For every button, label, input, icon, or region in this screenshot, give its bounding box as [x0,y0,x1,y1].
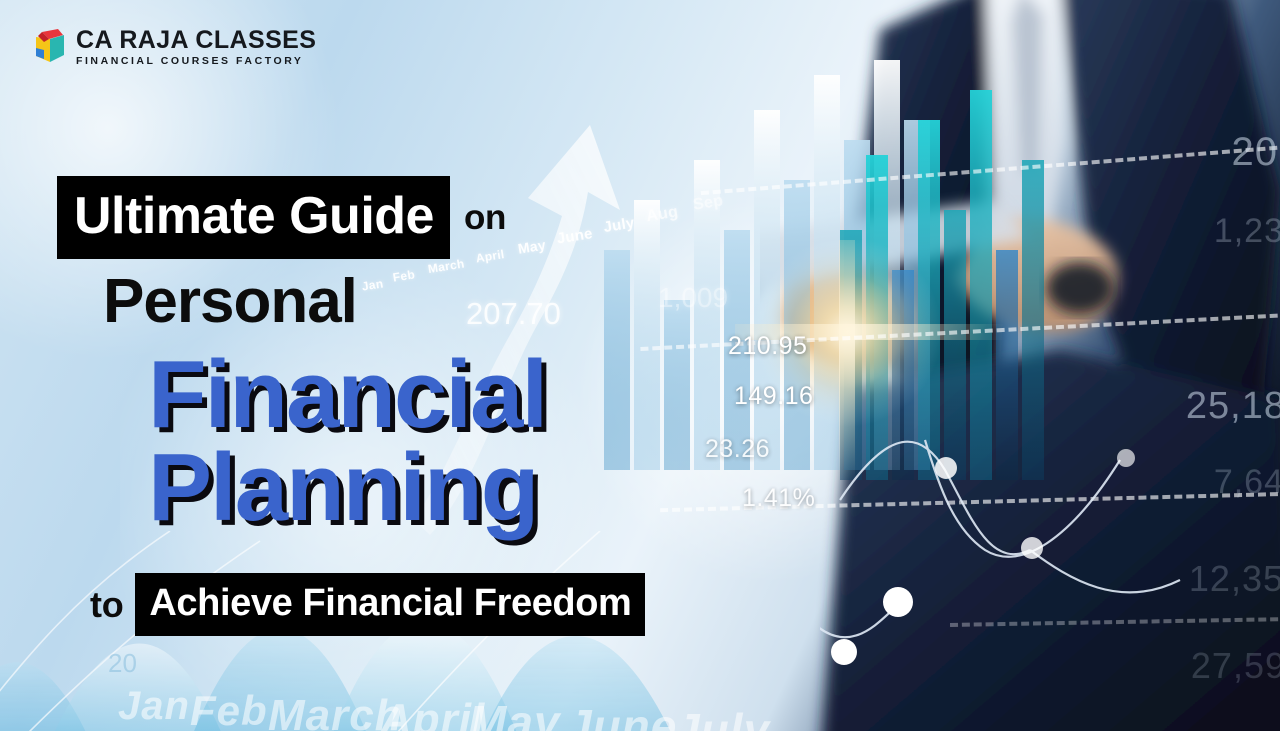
cube-logo-icon [33,29,67,65]
headline-line-2: Personal [103,266,357,337]
headline-planning: Planning [148,433,537,543]
headline-ultimate-guide: Ultimate Guide [57,176,450,259]
logo-subtitle: FINANCIAL COURSES FACTORY [76,56,316,67]
ticker-number: 27,59 [1191,645,1280,687]
ticker-number: 7,64 [1214,463,1280,502]
ticker-number: 20 [1232,130,1279,175]
banner-hero: Jan Feb March April May June July Aug Se… [0,0,1280,731]
headline-block: Ultimate Guide on Personal Financial Pla… [0,0,760,731]
logo-title: CA RAJA CLASSES [76,28,316,53]
headline-achieve-financial-freedom: Achieve Financial Freedom [135,573,645,636]
headline-line-1: Ultimate Guide on [57,176,506,259]
headline-line-5: to Achieve Financial Freedom [90,573,645,636]
ticker-number: 25,18 [1186,385,1280,428]
headline-line-4: Planning [148,433,537,543]
headline-to: to [90,584,123,626]
ticker-number: 1,23 [1214,212,1280,251]
headline-personal: Personal [103,266,357,337]
brand-logo[interactable]: CA RAJA CLASSES FINANCIAL COURSES FACTOR… [33,28,316,67]
logo-text-block: CA RAJA CLASSES FINANCIAL COURSES FACTOR… [76,28,316,67]
headline-on: on [464,198,506,238]
ticker-number: 12,35 [1189,558,1280,600]
